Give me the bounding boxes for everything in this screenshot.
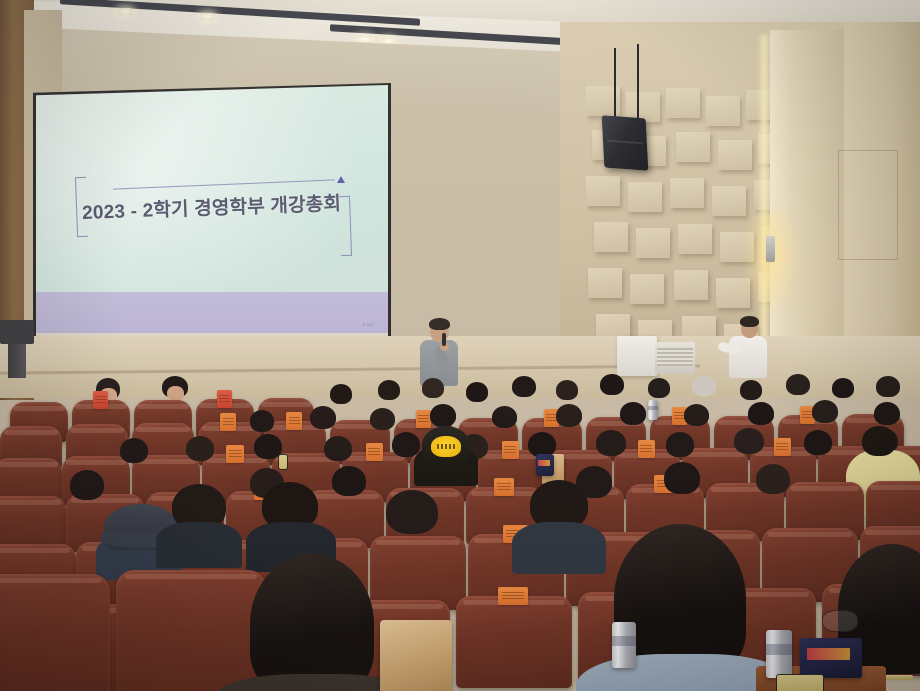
lectern	[617, 336, 657, 376]
smartphone[interactable]	[776, 674, 824, 691]
speaker-rod	[614, 48, 616, 122]
seat	[456, 596, 572, 688]
paper-bag	[380, 620, 452, 691]
speaker-rod	[637, 44, 639, 122]
audience-head	[324, 436, 352, 461]
staff-hair	[740, 316, 759, 327]
slide-accent-band	[36, 292, 388, 333]
audience-head	[250, 410, 274, 432]
seat	[0, 574, 110, 691]
audience-head	[370, 408, 395, 430]
audience-head	[862, 426, 896, 456]
audience-head	[786, 374, 810, 395]
equipment-cabinet-vent	[657, 348, 693, 366]
audience-head	[666, 432, 694, 457]
audience-head	[466, 382, 488, 402]
audience-head	[684, 404, 709, 426]
ceiling-track-light-icon	[118, 8, 133, 15]
audience-shoulders	[512, 522, 606, 574]
audience-head	[874, 402, 900, 425]
audience-head	[186, 436, 214, 461]
beverage-can	[766, 630, 792, 678]
audience-head	[120, 438, 148, 463]
eyeglasses-icon	[822, 610, 858, 632]
audience-head	[740, 380, 762, 400]
audience-head	[876, 376, 900, 397]
audience-head	[492, 406, 517, 428]
audience-head	[332, 466, 366, 496]
audience-head	[804, 430, 832, 455]
audience-head	[832, 378, 854, 398]
audience-head	[386, 490, 438, 534]
audience-head	[734, 428, 764, 454]
yellow-logo-cap	[422, 426, 470, 464]
slide-corner-mark: S.NU	[362, 322, 374, 327]
audience-shoulders	[156, 522, 242, 568]
beverage-can	[612, 622, 636, 668]
audience-head	[648, 378, 670, 398]
audience-head	[430, 404, 456, 427]
audience-head	[596, 430, 626, 456]
audience-head	[250, 554, 374, 691]
pillar-light-strip	[758, 34, 770, 384]
audience-head	[378, 380, 400, 400]
speaker-hair	[429, 318, 450, 330]
audience-head	[512, 376, 536, 397]
audience-head	[70, 470, 104, 500]
ceiling-track-light-icon	[200, 13, 215, 20]
audience-face	[167, 386, 184, 401]
audience-head	[812, 400, 838, 423]
projection-screen: 2023 - 2학기 경영학부 개강총회 S.NU	[36, 85, 388, 356]
staff-torso	[729, 336, 767, 378]
audience-head	[692, 376, 716, 396]
slide-arrow-icon	[337, 176, 345, 183]
audience-head	[620, 402, 646, 425]
beverage-can	[648, 400, 658, 420]
audience-head	[756, 464, 790, 494]
stage-equipment	[0, 320, 34, 344]
wall-panel-seam	[838, 150, 898, 260]
audience-head	[556, 404, 582, 427]
audience-head	[600, 374, 624, 395]
seat	[370, 536, 466, 610]
seat	[116, 570, 266, 691]
hanging-speaker-icon	[602, 115, 649, 170]
wall-sconce-icon	[766, 236, 775, 262]
microphone-icon	[442, 333, 446, 346]
snack-bag	[800, 638, 862, 678]
audience-seating	[0, 374, 920, 691]
auditorium-photograph: 2023 - 2학기 경영학부 개강총회 S.NU	[0, 0, 920, 691]
audience-head	[422, 378, 444, 398]
audience-head	[330, 384, 352, 404]
sconce-glow	[742, 210, 800, 320]
audience-head	[392, 432, 420, 457]
smartphone[interactable]	[278, 454, 288, 470]
stage-equipment-stand	[8, 344, 26, 378]
audience-head	[664, 462, 700, 494]
snack-bag	[536, 454, 554, 476]
audience-head	[748, 402, 774, 425]
audience-head	[556, 380, 578, 400]
cap-logo-icon	[431, 436, 462, 457]
audience-head	[310, 406, 336, 429]
